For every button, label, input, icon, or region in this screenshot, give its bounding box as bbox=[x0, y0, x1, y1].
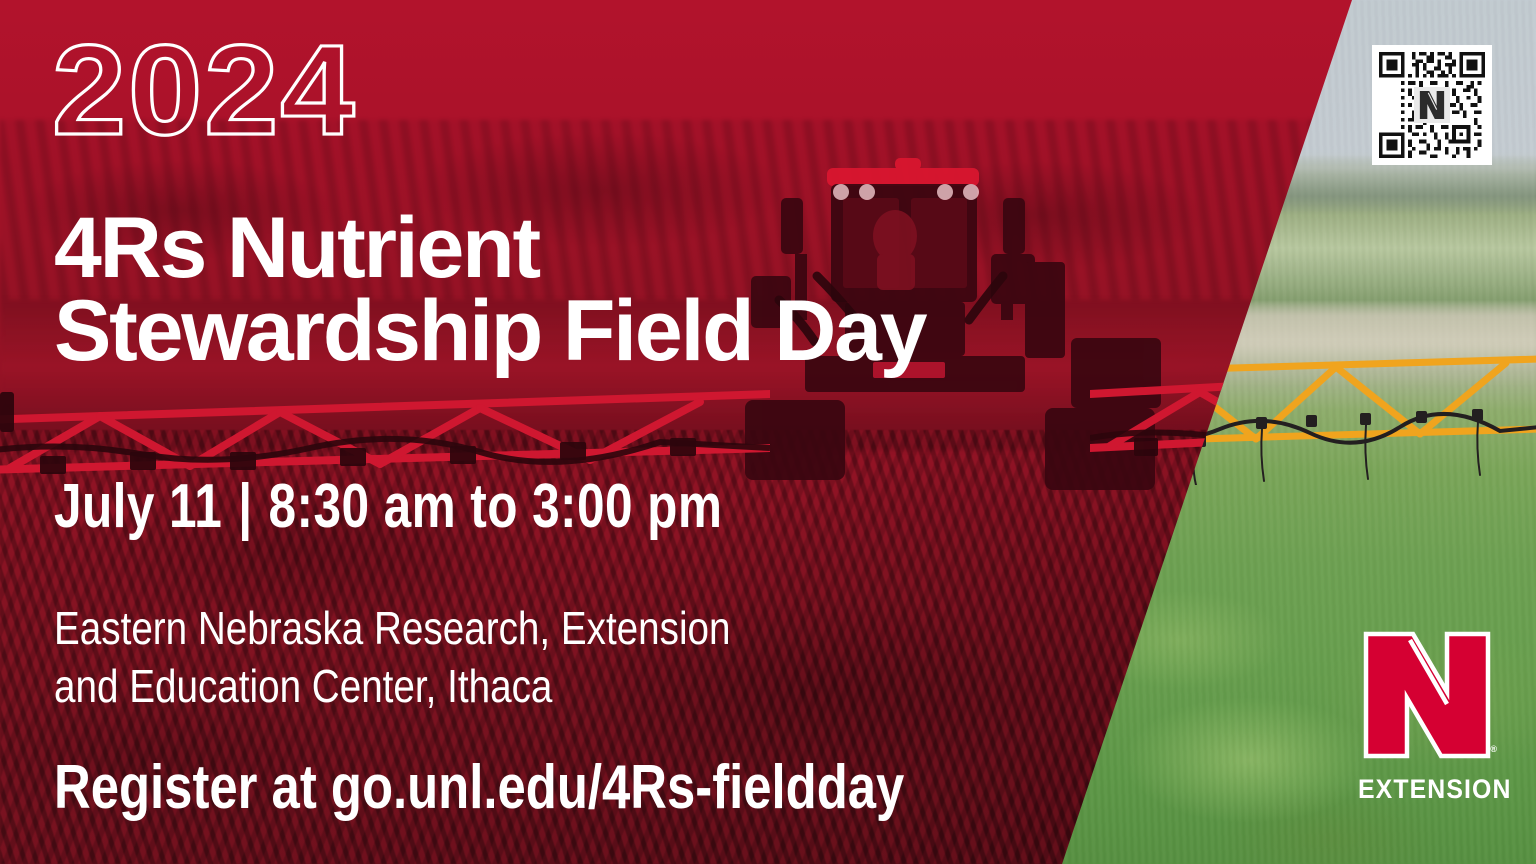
registration-call-to-action[interactable]: Register at go.unl.edu/4Rs-fieldday bbox=[54, 757, 904, 819]
event-time: 8:30 am to 3:00 pm bbox=[269, 472, 723, 541]
n-logo-icon bbox=[1361, 630, 1493, 760]
page-title: 4Rs Nutrient Stewardship Field Day bbox=[54, 207, 1164, 374]
poster-content: 2024 4Rs Nutrient Stewardship Field Day … bbox=[0, 0, 1536, 864]
year-headline: 2024 bbox=[52, 36, 389, 156]
extension-wordmark: EXTENSION bbox=[1358, 774, 1496, 805]
year-outline-svg: 2024 bbox=[52, 36, 389, 156]
field-day-poster: 2024 4Rs Nutrient Stewardship Field Day … bbox=[0, 0, 1536, 864]
nebraska-extension-logo: ® EXTENSION bbox=[1352, 630, 1502, 815]
event-date: July 11 bbox=[54, 472, 222, 541]
venue-line-2: and Education Center, Ithaca bbox=[54, 658, 731, 716]
qr-center-logo bbox=[1414, 87, 1450, 123]
year-text: 2024 bbox=[52, 36, 357, 156]
registered-trademark: ® bbox=[1490, 744, 1497, 754]
event-datetime: July 11|8:30 am to 3:00 pm bbox=[54, 476, 722, 538]
nebraska-n-mark: ® bbox=[1361, 630, 1493, 760]
title-line-2: Stewardship Field Day bbox=[54, 290, 1164, 373]
venue-line-1: Eastern Nebraska Research, Extension bbox=[54, 600, 731, 658]
qr-code[interactable] bbox=[1372, 45, 1492, 165]
n-logo-qr-icon bbox=[1418, 90, 1446, 120]
datetime-separator: | bbox=[222, 472, 268, 541]
title-line-1: 4Rs Nutrient bbox=[54, 200, 539, 296]
event-venue: Eastern Nebraska Research, Extension and… bbox=[54, 600, 731, 716]
